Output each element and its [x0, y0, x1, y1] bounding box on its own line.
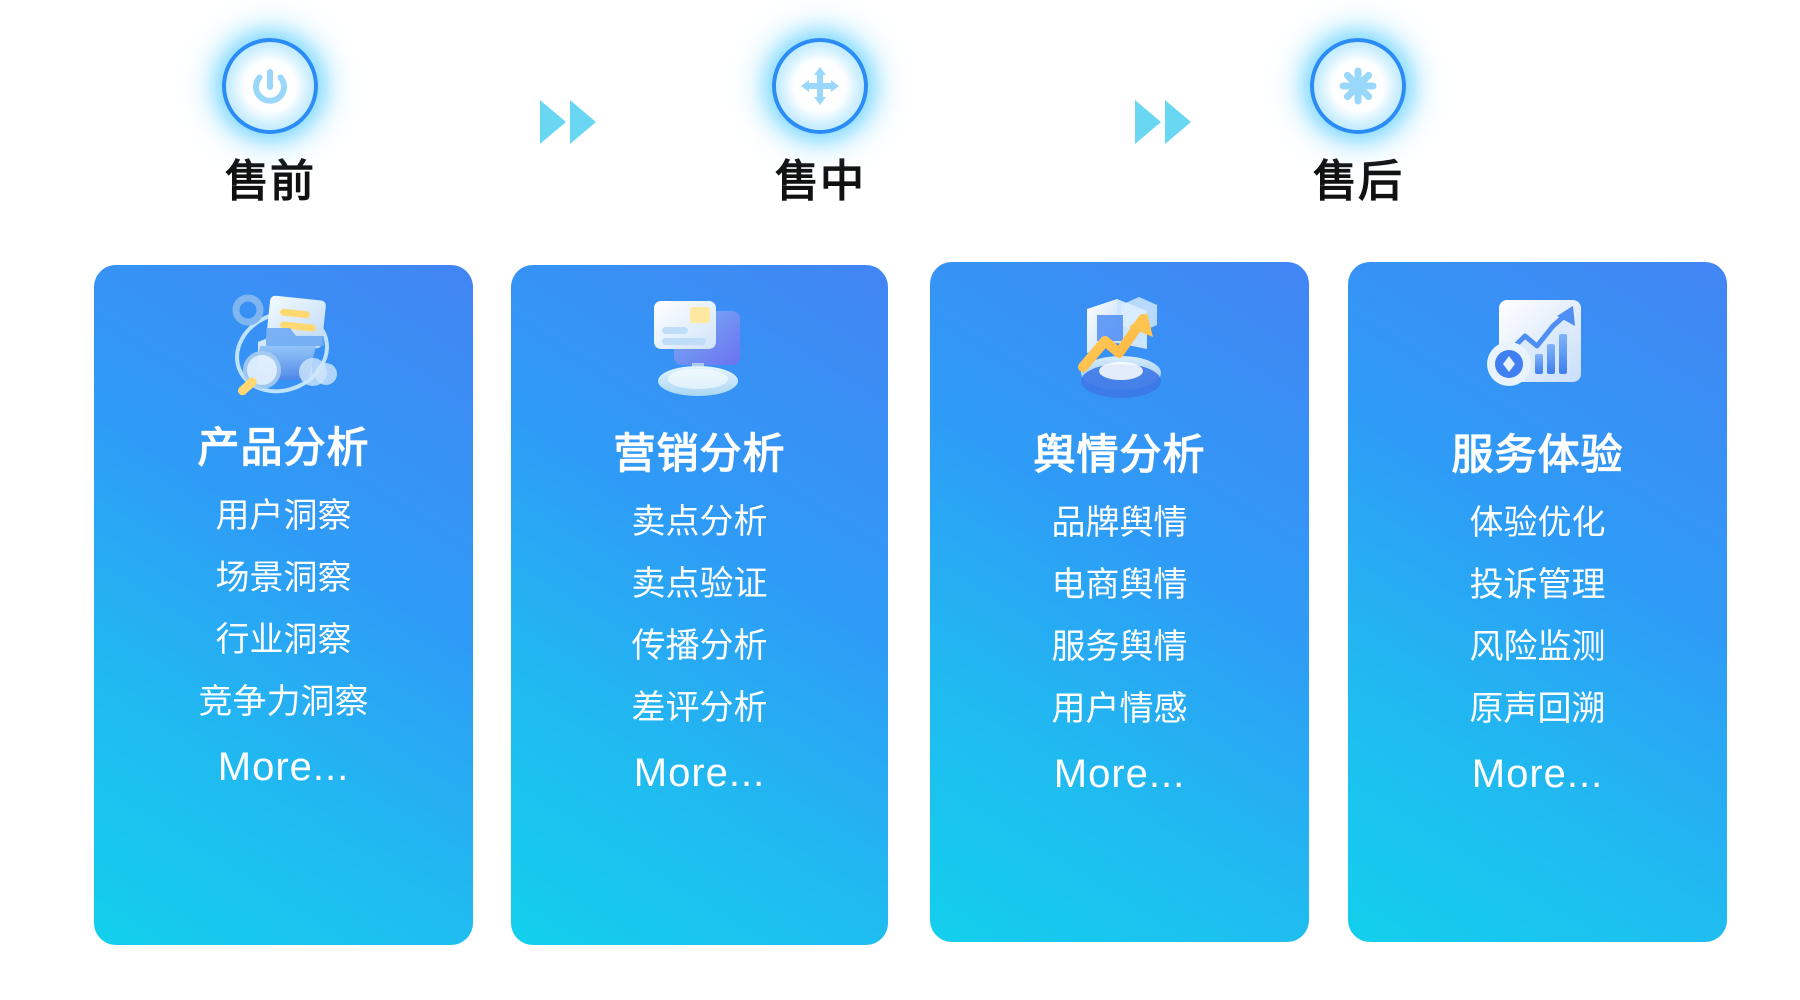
list-item[interactable]: 卖点验证 [632, 567, 768, 601]
list-item[interactable]: 风险监测 [1470, 630, 1606, 664]
list-item[interactable]: 投诉管理 [1470, 568, 1606, 602]
card-title: 服务体验 [1451, 434, 1623, 476]
list-item[interactable]: 行业洞察 [216, 623, 352, 657]
list-item[interactable]: 卖点分析 [632, 505, 768, 539]
connector-2 [1135, 100, 1191, 144]
stage-label: 售中 [775, 160, 865, 204]
stage-marker-pre-sales[interactable]: 售前 [170, 38, 370, 204]
infographic-canvas: 售前 售中 [0, 0, 1800, 1000]
connector-1 [540, 100, 596, 144]
stage-label: 售后 [1313, 160, 1403, 204]
list-item[interactable]: 用户洞察 [216, 499, 352, 533]
double-chevron-right-icon [570, 100, 596, 144]
power-icon [222, 38, 318, 134]
list-item[interactable]: 传播分析 [632, 629, 768, 663]
more-link[interactable]: More... [1054, 754, 1185, 794]
list-item[interactable]: 服务舆情 [1052, 630, 1188, 664]
cube-growth-arrow-3d-icon [1055, 286, 1185, 406]
stage-marker-after-sales[interactable]: 售后 [1258, 38, 1458, 204]
card-item-list: 卖点分析 卖点验证 传播分析 差评分析 More... [511, 505, 888, 793]
more-link[interactable]: More... [218, 747, 349, 787]
move-arrows-icon [772, 38, 868, 134]
more-link[interactable]: More... [1472, 754, 1603, 794]
list-item[interactable]: 用户情感 [1052, 692, 1188, 726]
card-service-experience[interactable]: 服务体验 体验优化 投诉管理 风险监测 原声回溯 More... [1348, 262, 1727, 942]
list-item[interactable]: 竞争力洞察 [199, 685, 369, 719]
card-title: 产品分析 [197, 427, 369, 469]
stage-marker-in-sales[interactable]: 售中 [720, 38, 920, 204]
more-link[interactable]: More... [634, 753, 765, 793]
list-item[interactable]: 场景洞察 [216, 561, 352, 595]
card-item-list: 体验优化 投诉管理 风险监测 原声回溯 More... [1348, 506, 1727, 794]
double-chevron-right-icon [1135, 100, 1161, 144]
monitor-card-3d-icon [635, 289, 765, 409]
card-product-analysis[interactable]: 产品分析 用户洞察 场景洞察 行业洞察 竞争力洞察 More... [94, 265, 473, 945]
list-item[interactable]: 体验优化 [1470, 506, 1606, 540]
stage-label: 售前 [225, 160, 315, 204]
card-marketing-analysis[interactable]: 营销分析 卖点分析 卖点验证 传播分析 差评分析 More... [511, 265, 888, 945]
card-item-list: 用户洞察 场景洞察 行业洞察 竞争力洞察 More... [94, 499, 473, 787]
list-item[interactable]: 电商舆情 [1052, 568, 1188, 602]
card-title: 舆情分析 [1033, 434, 1205, 476]
card-sentiment-analysis[interactable]: 舆情分析 品牌舆情 电商舆情 服务舆情 用户情感 More... [930, 262, 1309, 942]
list-item[interactable]: 差评分析 [632, 691, 768, 725]
card-item-list: 品牌舆情 电商舆情 服务舆情 用户情感 More... [930, 506, 1309, 794]
chart-analytics-3d-icon [1473, 286, 1603, 406]
double-chevron-right-icon [540, 100, 566, 144]
double-chevron-right-icon [1165, 100, 1191, 144]
list-item[interactable]: 原声回溯 [1470, 692, 1606, 726]
folder-search-3d-icon [219, 289, 349, 409]
card-title: 营销分析 [613, 433, 785, 475]
asterisk-icon [1310, 38, 1406, 134]
list-item[interactable]: 品牌舆情 [1052, 506, 1188, 540]
